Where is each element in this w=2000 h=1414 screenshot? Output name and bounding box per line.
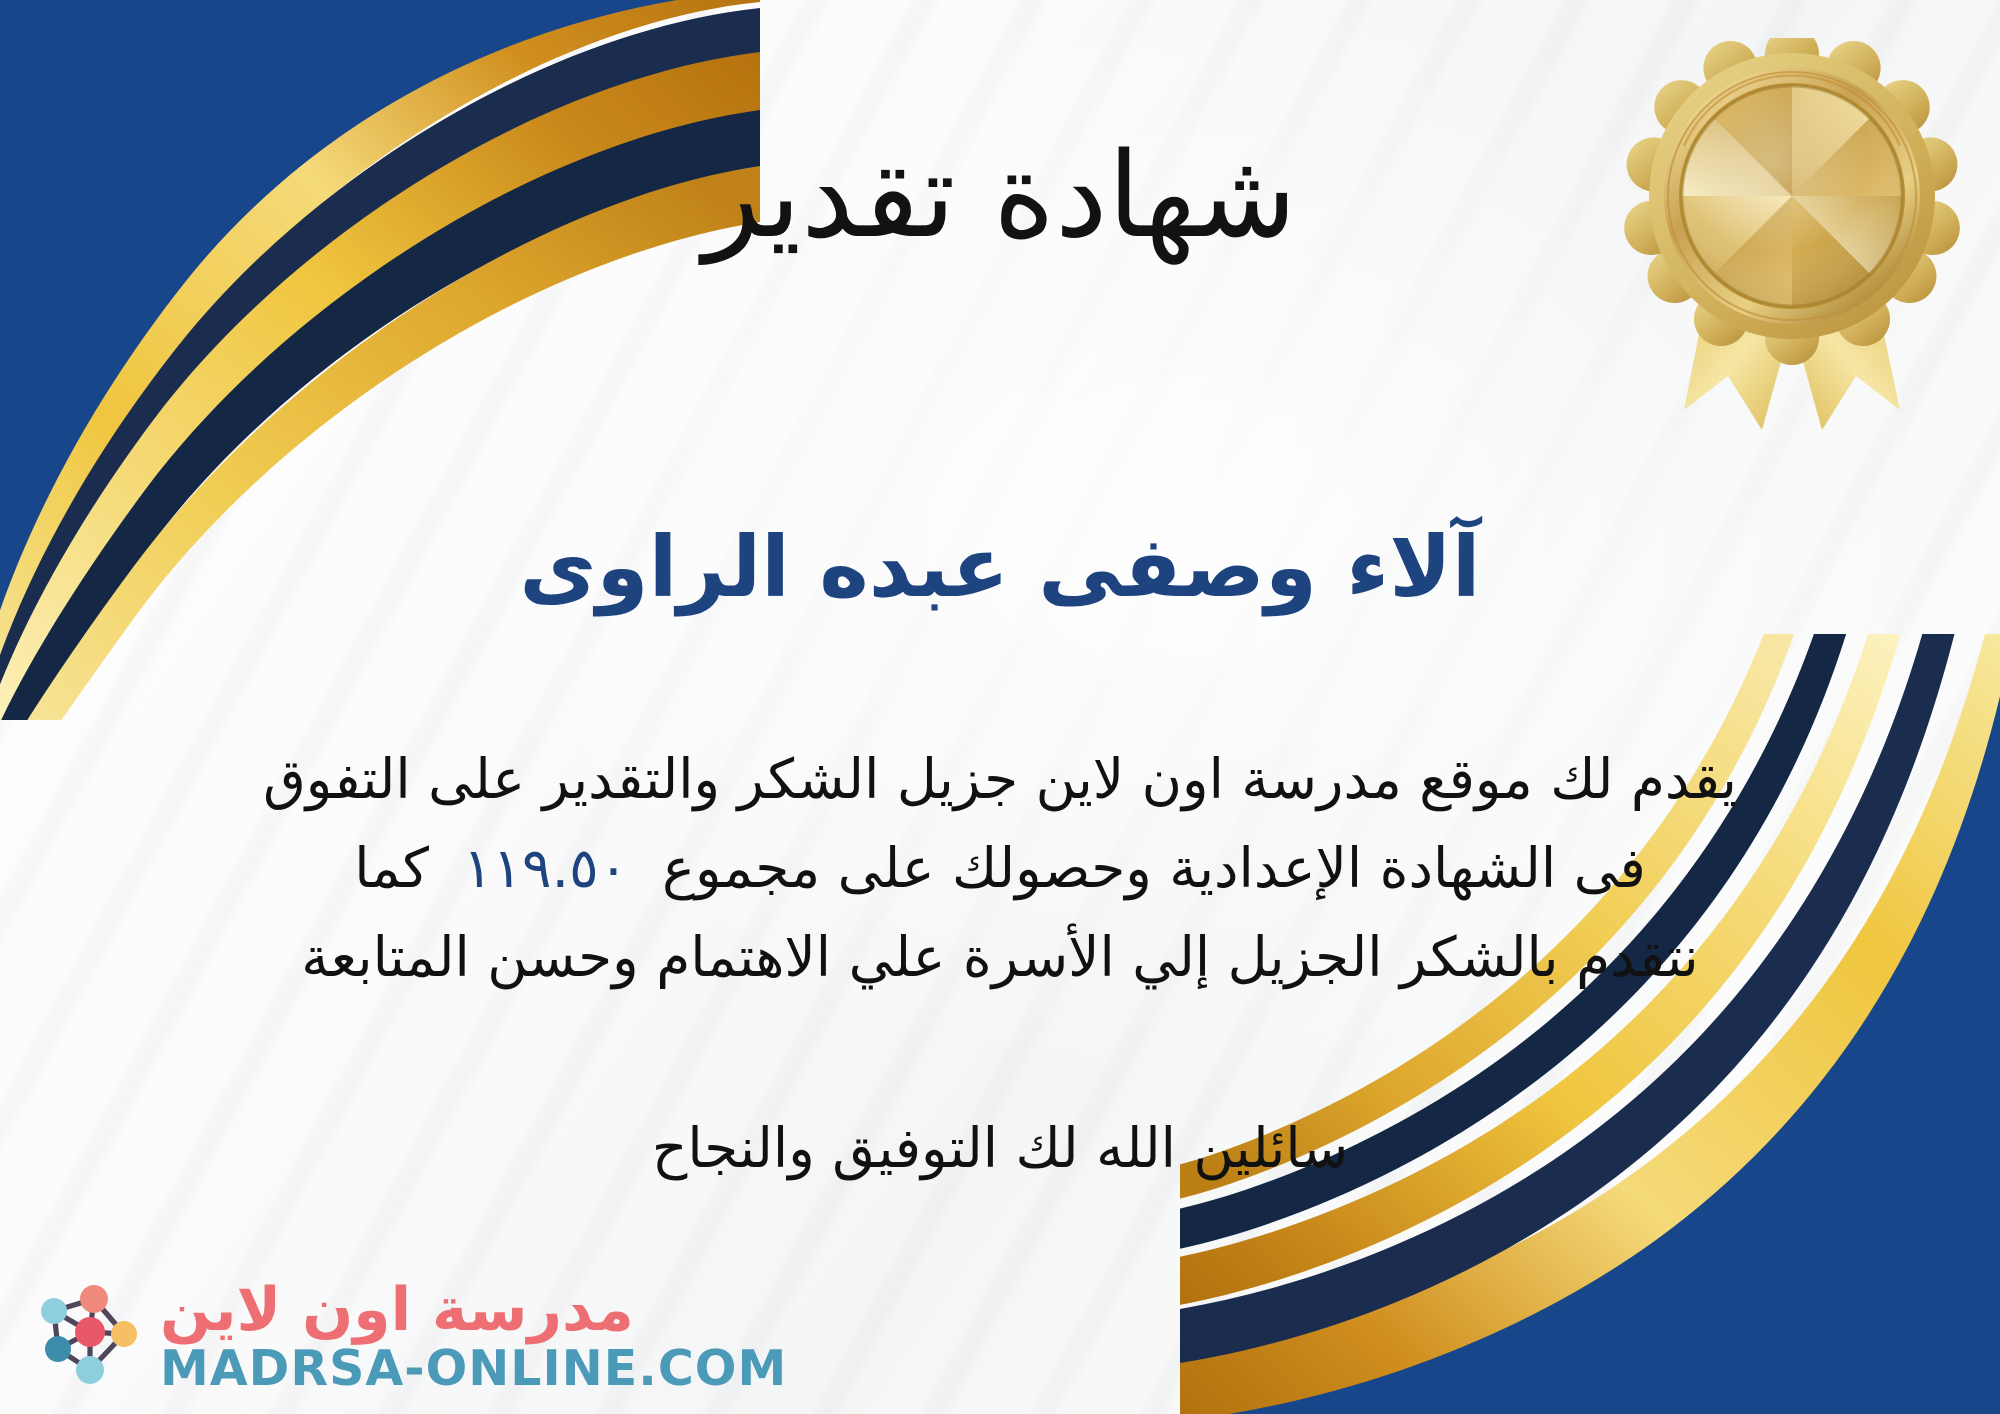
brand-logo[interactable]: مدرسة اون لاين MADRSA-ONLINE.COM — [28, 1278, 787, 1396]
network-graph-icon — [28, 1278, 146, 1396]
certificate-body: يقدم لك موقع مدرسة اون لاين جزيل الشكر و… — [60, 735, 1940, 1002]
recipient-name: آلاء وصفى عبده الراوى — [0, 516, 2000, 618]
brand-name-arabic: مدرسة اون لاين — [160, 1279, 634, 1342]
score-value: ١١٩.٥٠ — [429, 836, 662, 900]
body-line-3: نتقدم بالشكر الجزيل إلي الأسرة علي الاهت… — [60, 913, 1940, 1002]
closing-line: سائلين الله لك التوفيق والنجاح — [0, 1116, 2000, 1180]
body-line-2: فى الشهادة الإعدادية وحصولك على مجموع١١٩… — [60, 824, 1940, 913]
certificate-title: شهادة تقدير — [0, 126, 2000, 265]
body-line-2-prefix: فى الشهادة الإعدادية وحصولك على مجموع — [662, 836, 1646, 900]
brand-domain: MADRSA-ONLINE.COM — [160, 1342, 787, 1396]
body-line-1: يقدم لك موقع مدرسة اون لاين جزيل الشكر و… — [60, 735, 1940, 824]
brand-text-group: مدرسة اون لاين MADRSA-ONLINE.COM — [160, 1279, 787, 1396]
certificate-canvas: شهادة تقدير آلاء وصفى عبده الراوى يقدم ل… — [0, 0, 2000, 1414]
body-line-2-suffix: كما — [354, 836, 429, 900]
